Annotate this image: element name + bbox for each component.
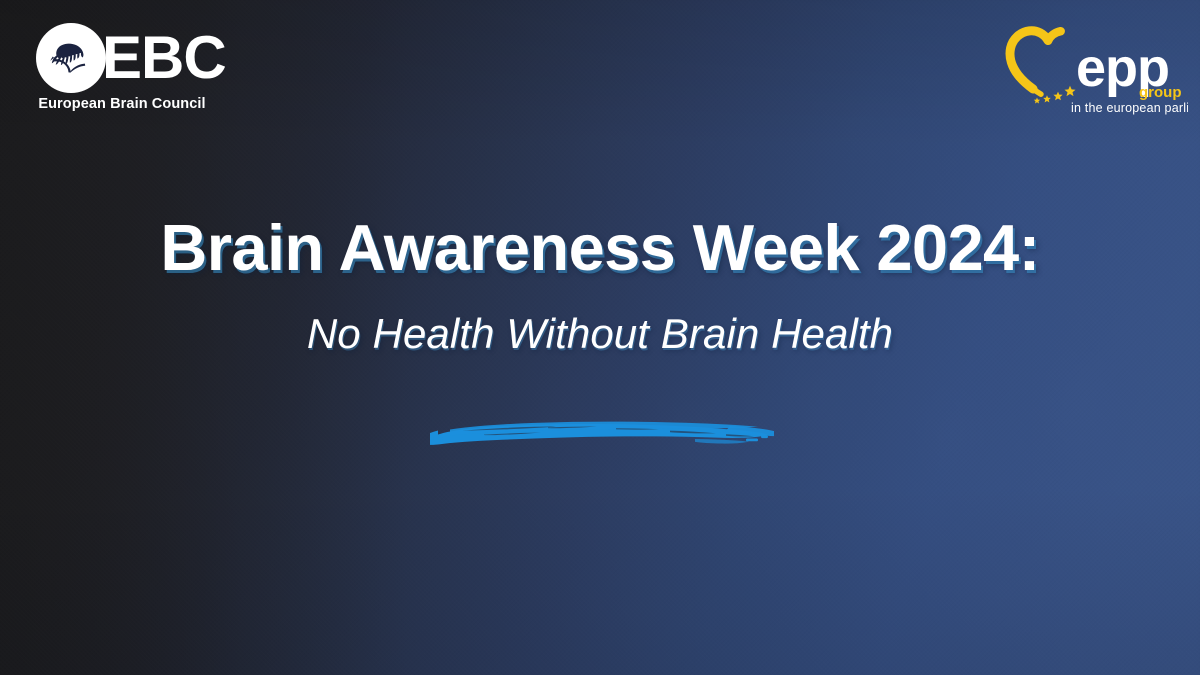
epp-logo[interactable]: epp group in the european parliament (976, 24, 1188, 116)
event-banner: EBC European Brain Council epp group (0, 0, 1200, 675)
svg-text:group: group (1139, 84, 1182, 101)
page-subtitle: No Health Without Brain Health (0, 311, 1200, 357)
brain-icon (36, 23, 106, 93)
heart-outline-icon (1010, 31, 1061, 94)
ebc-organisation-name: European Brain Council (36, 96, 208, 112)
blue-brush-stroke (430, 408, 774, 460)
ebc-wordmark: EBC (102, 28, 226, 88)
ebc-logo[interactable]: EBC European Brain Council (36, 22, 216, 117)
svg-text:in the european parliament: in the european parliament (1071, 101, 1188, 115)
ebc-logo-row: EBC (36, 22, 216, 94)
page-title: Brain Awareness Week 2024: (0, 214, 1200, 283)
headline-block: Brain Awareness Week 2024: No Health Wit… (0, 214, 1200, 357)
